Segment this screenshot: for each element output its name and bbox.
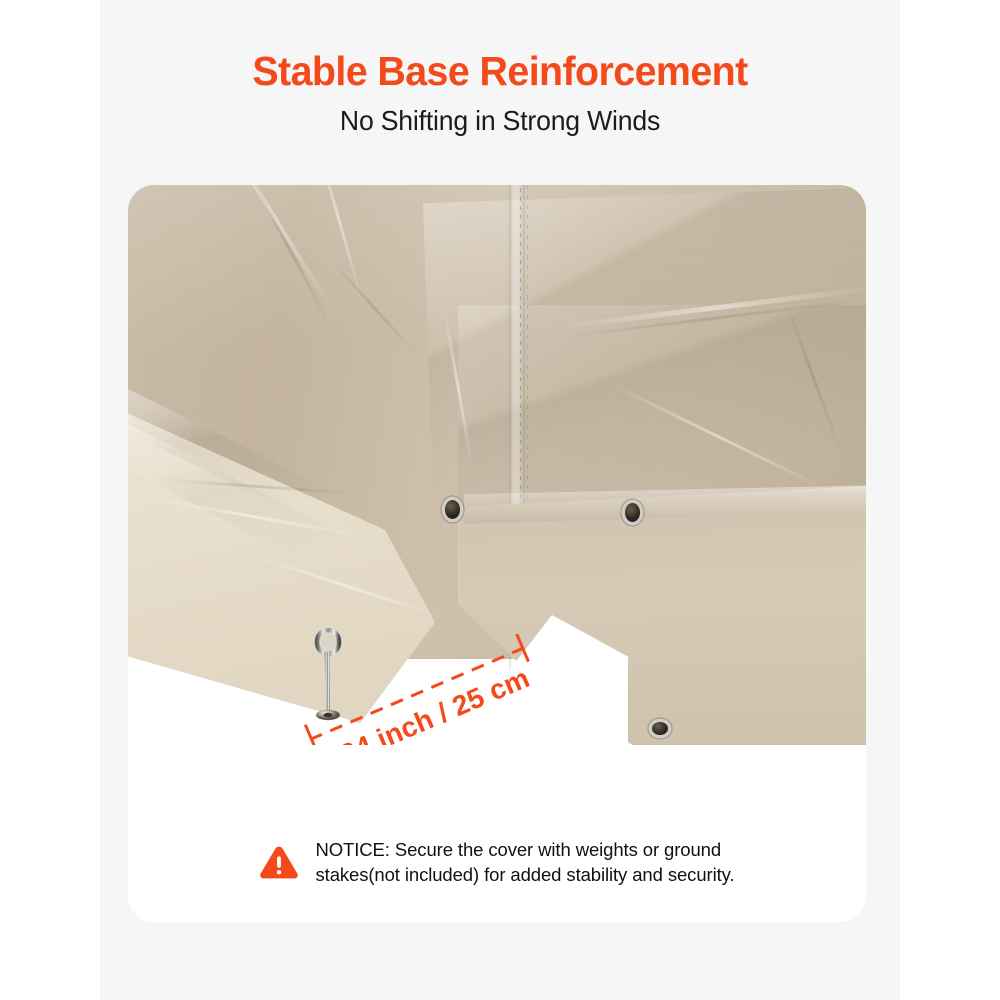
warning-triangle-icon bbox=[259, 844, 299, 880]
product-feature-image: Stable Base Reinforcement No Shifting in… bbox=[0, 0, 1000, 1000]
product-photo: 9.84 inch / 25 cm bbox=[128, 185, 866, 745]
notice-row: NOTICE: Secure the cover with weights or… bbox=[128, 837, 866, 887]
notice-text: NOTICE: Secure the cover with weights or… bbox=[316, 837, 736, 887]
grommet-corner bbox=[652, 722, 668, 735]
header: Stable Base Reinforcement No Shifting in… bbox=[100, 46, 900, 138]
page-title: Stable Base Reinforcement bbox=[116, 46, 884, 96]
ground-stake bbox=[306, 628, 350, 728]
grommet-left bbox=[445, 500, 460, 519]
feature-card: 9.84 inch / 25 cm NOTICE: Secure the cov… bbox=[128, 185, 866, 922]
grommet-right bbox=[625, 503, 640, 522]
page-subtitle: No Shifting in Strong Winds bbox=[120, 104, 880, 138]
